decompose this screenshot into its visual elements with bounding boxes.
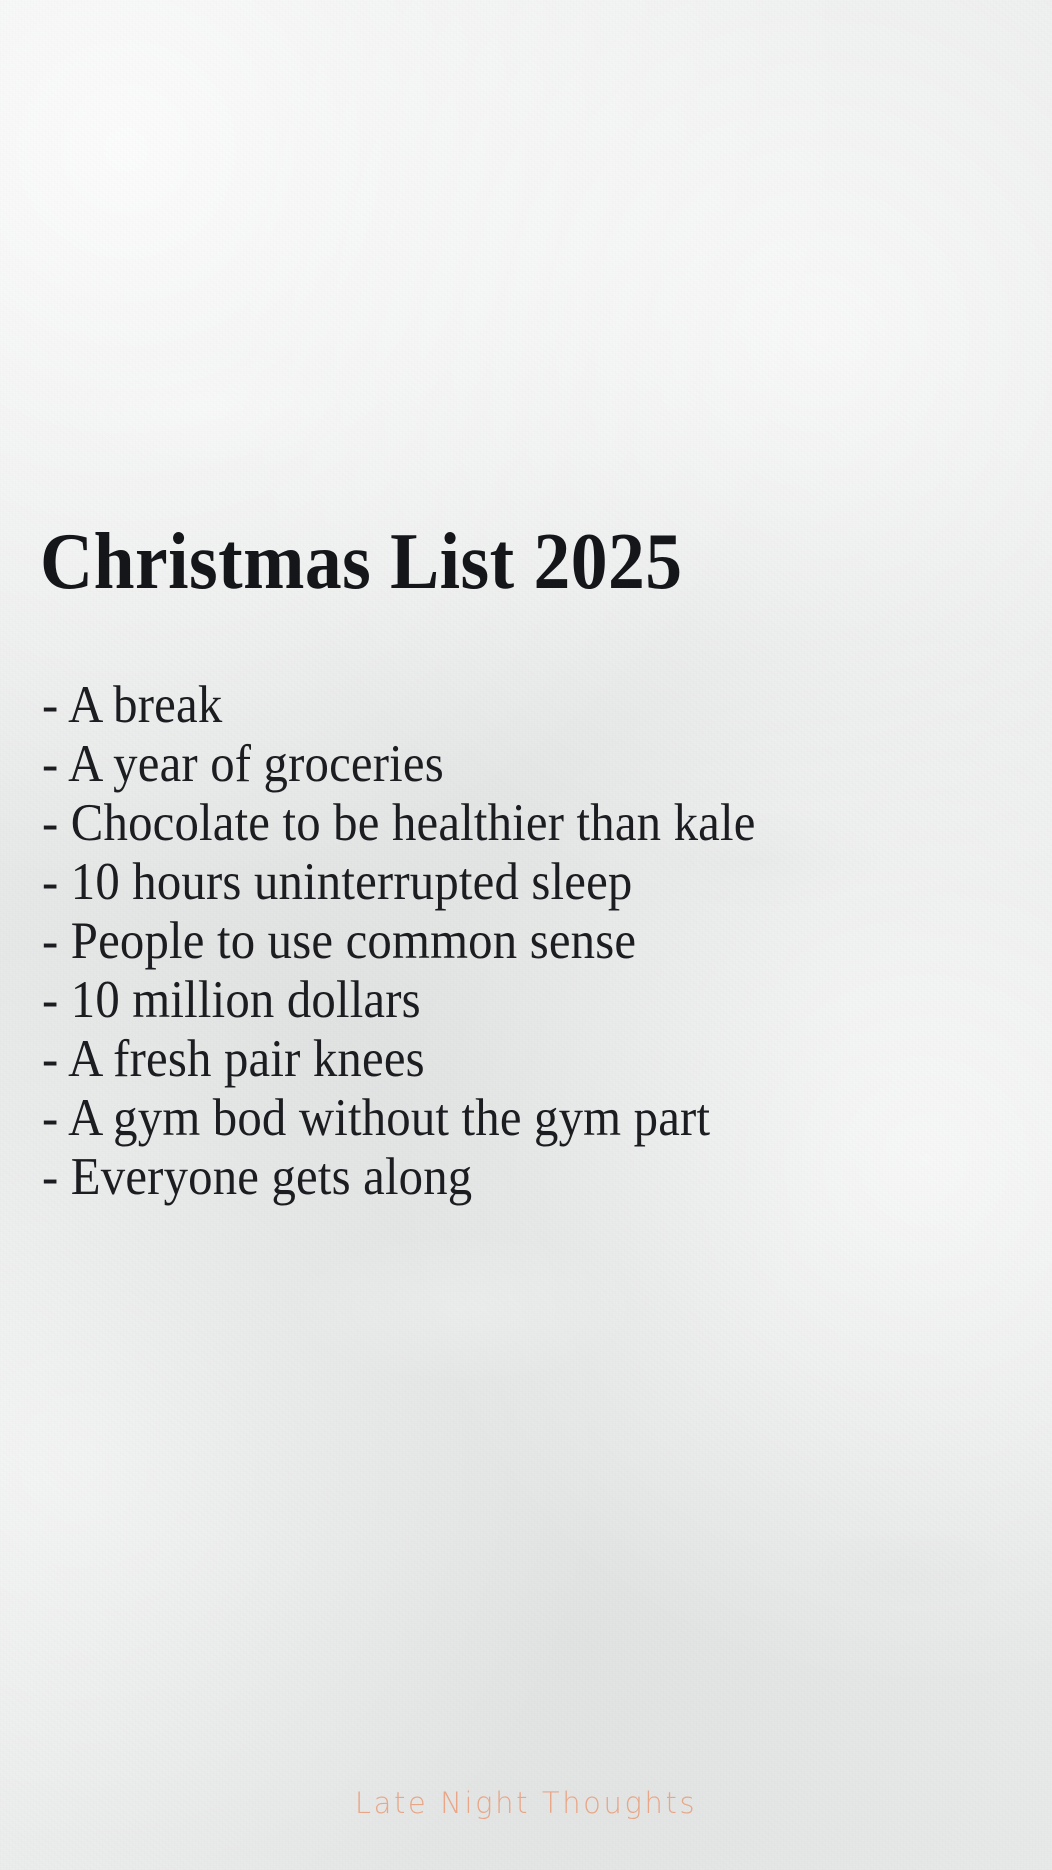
list-item: - Everyone gets along	[42, 1148, 944, 1207]
list-item: - A gym bod without the gym part	[42, 1089, 944, 1148]
list-item: - People to use common sense	[42, 912, 944, 971]
wishlist: - A break - A year of groceries - Chocol…	[42, 676, 1022, 1207]
list-item: - Chocolate to be healthier than kale	[42, 794, 944, 853]
list-item: - A year of groceries	[42, 735, 944, 794]
list-item: - A fresh pair knees	[42, 1030, 944, 1089]
poster-canvas: Christmas List 2025 - A break - A year o…	[0, 0, 1052, 1870]
list-item: - 10 million dollars	[42, 971, 944, 1030]
page-title: Christmas List 2025	[40, 522, 683, 602]
list-item: - A break	[42, 676, 944, 735]
footer-credit: Late Night Thoughts	[0, 1786, 1052, 1820]
list-item: - 10 hours uninterrupted sleep	[42, 853, 944, 912]
poster-content: Christmas List 2025 - A break - A year o…	[0, 0, 1052, 1870]
